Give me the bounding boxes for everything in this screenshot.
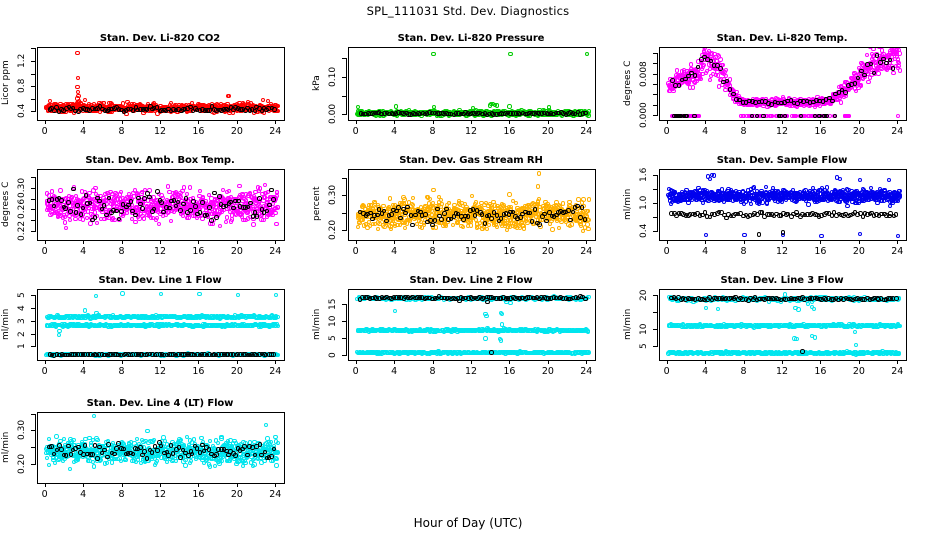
x-tick bbox=[237, 483, 238, 487]
y-tick bbox=[342, 114, 347, 115]
y-tick-label: 0 bbox=[326, 339, 340, 371]
y-axis-label-sample-flow: ml/min bbox=[622, 167, 634, 241]
x-tick bbox=[275, 483, 276, 487]
y-tick-label: 1 bbox=[15, 330, 29, 362]
y-tick-label: 1.0 bbox=[637, 187, 651, 219]
y-tick bbox=[342, 355, 347, 356]
x-tick-label: 8 bbox=[418, 126, 448, 137]
y-tick-label: 0.22 bbox=[15, 215, 29, 247]
x-tick bbox=[160, 120, 161, 124]
x-tick-label: 4 bbox=[379, 366, 409, 377]
x-axis-line bbox=[45, 120, 276, 121]
plot-area-li820-pressure bbox=[348, 47, 596, 121]
x-axis-line bbox=[45, 360, 276, 361]
x-tick bbox=[820, 240, 821, 244]
y-axis-line bbox=[35, 295, 36, 346]
x-tick-label: 16 bbox=[183, 246, 213, 257]
y-minor-tick bbox=[653, 105, 658, 106]
x-tick-label: 20 bbox=[533, 126, 563, 137]
x-tick-label: 4 bbox=[379, 126, 409, 137]
y-tick bbox=[342, 304, 347, 305]
x-tick bbox=[897, 120, 898, 124]
y-tick-label: 10 bbox=[326, 305, 340, 337]
y-tick-label: 0.008 bbox=[637, 58, 651, 90]
x-tick-label: 12 bbox=[456, 366, 486, 377]
x-tick bbox=[586, 120, 587, 124]
x-tick-label: 0 bbox=[652, 126, 682, 137]
y-minor-tick bbox=[31, 177, 36, 178]
y-tick bbox=[31, 86, 36, 87]
x-tick bbox=[275, 360, 276, 364]
panel-title-amb-box-temp: Stan. Dev. Amb. Box Temp. bbox=[0, 155, 323, 166]
y-tick-label: 5 bbox=[326, 322, 340, 354]
x-tick-label: 4 bbox=[690, 366, 720, 377]
y-tick bbox=[31, 464, 36, 465]
y-tick-label: 0.4 bbox=[637, 215, 651, 247]
y-minor-tick bbox=[31, 414, 36, 415]
y-axis-label-gas-stream-rh: percent bbox=[311, 167, 323, 241]
x-tick-label: 12 bbox=[145, 246, 175, 257]
panel-title-line-4-lt-flow: Stan. Dev. Line 4 (LT) Flow bbox=[0, 398, 323, 409]
panel-title-line-2-flow: Stan. Dev. Line 2 Flow bbox=[308, 275, 634, 286]
x-tick bbox=[275, 240, 276, 244]
x-tick bbox=[160, 483, 161, 487]
x-tick bbox=[198, 240, 199, 244]
x-tick-label: 8 bbox=[418, 366, 448, 377]
x-tick-label: 0 bbox=[30, 366, 60, 377]
y-tick bbox=[342, 321, 347, 322]
x-axis-line bbox=[45, 483, 276, 484]
x-tick bbox=[122, 360, 123, 364]
y-tick bbox=[342, 77, 347, 78]
y-minor-tick bbox=[653, 63, 658, 64]
y-minor-tick bbox=[31, 447, 36, 448]
y-tick-label: 10 bbox=[637, 313, 651, 345]
figure-title: SPL_111031 Std. Dev. Diagnostics bbox=[0, 4, 936, 18]
y-tick bbox=[342, 230, 347, 231]
x-tick-label: 0 bbox=[30, 489, 60, 500]
y-tick bbox=[653, 329, 658, 330]
x-tick-label: 4 bbox=[68, 126, 98, 137]
x-tick bbox=[275, 120, 276, 124]
x-tick-label: 20 bbox=[222, 366, 252, 377]
x-tick-label: 4 bbox=[68, 366, 98, 377]
y-minor-tick bbox=[31, 48, 36, 49]
x-tick bbox=[471, 120, 472, 124]
x-tick-label: 24 bbox=[571, 246, 601, 257]
y-minor-tick bbox=[653, 312, 658, 313]
y-tick bbox=[31, 346, 36, 347]
x-axis-line bbox=[667, 240, 898, 241]
x-tick-label: 4 bbox=[68, 489, 98, 500]
y-tick bbox=[31, 111, 36, 112]
x-tick bbox=[83, 240, 84, 244]
y-tick-label: 3 bbox=[15, 305, 29, 337]
x-axis-line bbox=[45, 240, 276, 241]
x-tick-label: 20 bbox=[222, 246, 252, 257]
y-axis-label-li820-co2: Licor ppm bbox=[0, 45, 12, 121]
x-tick bbox=[586, 240, 587, 244]
x-tick bbox=[509, 120, 510, 124]
x-tick bbox=[897, 240, 898, 244]
plot-area-line-4-lt-flow bbox=[37, 412, 285, 484]
y-axis-label-amb-box-temp: degrees C bbox=[0, 167, 12, 241]
x-tick bbox=[859, 120, 860, 124]
y-tick bbox=[653, 115, 658, 116]
x-tick-label: 24 bbox=[882, 366, 912, 377]
panel-title-li820-pressure: Stan. Dev. Li-820 Pressure bbox=[308, 33, 634, 44]
x-tick bbox=[820, 360, 821, 364]
x-tick bbox=[198, 120, 199, 124]
x-tick-label: 16 bbox=[805, 246, 835, 257]
y-axis-label-line-4-lt-flow: ml/min bbox=[0, 410, 12, 484]
y-minor-tick bbox=[342, 178, 347, 179]
x-tick bbox=[198, 360, 199, 364]
panel-title-line-3-flow: Stan. Dev. Line 3 Flow bbox=[619, 275, 936, 286]
x-tick-label: 0 bbox=[341, 126, 371, 137]
x-tick bbox=[237, 240, 238, 244]
plot-area-sample-flow bbox=[659, 169, 907, 241]
x-tick-label: 24 bbox=[882, 246, 912, 257]
y-minor-tick bbox=[31, 74, 36, 75]
y-minor-tick bbox=[342, 58, 347, 59]
x-tick-label: 16 bbox=[183, 366, 213, 377]
figure-xlabel: Hour of Day (UTC) bbox=[0, 516, 936, 530]
x-tick bbox=[744, 240, 745, 244]
y-tick bbox=[31, 321, 36, 322]
x-tick-label: 24 bbox=[882, 126, 912, 137]
x-tick bbox=[471, 360, 472, 364]
x-tick bbox=[45, 240, 46, 244]
x-tick bbox=[705, 120, 706, 124]
x-tick bbox=[667, 360, 668, 364]
x-tick bbox=[548, 240, 549, 244]
x-tick-label: 12 bbox=[145, 489, 175, 500]
x-tick bbox=[744, 120, 745, 124]
y-minor-tick bbox=[653, 84, 658, 85]
y-minor-tick bbox=[653, 94, 658, 95]
y-tick bbox=[31, 295, 36, 296]
x-tick-label: 4 bbox=[690, 246, 720, 257]
x-tick-label: 8 bbox=[107, 246, 137, 257]
y-axis-label-line-2-flow: ml/min bbox=[311, 287, 323, 361]
x-tick-label: 8 bbox=[107, 366, 137, 377]
y-axis-label-line-3-flow: ml/min bbox=[622, 287, 634, 361]
y-tick bbox=[342, 338, 347, 339]
x-tick-label: 12 bbox=[456, 246, 486, 257]
panel-title-li820-co2: Stan. Dev. Li-820 CO2 bbox=[0, 33, 323, 44]
plot-area-line-1-flow bbox=[37, 289, 285, 361]
y-axis-line bbox=[657, 175, 658, 231]
x-axis-line bbox=[356, 240, 587, 241]
x-tick bbox=[433, 240, 434, 244]
x-tick-label: 0 bbox=[30, 126, 60, 137]
y-minor-tick bbox=[31, 99, 36, 100]
y-tick-label: 0.26 bbox=[15, 193, 29, 225]
x-tick-label: 4 bbox=[690, 126, 720, 137]
x-tick-label: 0 bbox=[652, 366, 682, 377]
x-tick bbox=[45, 483, 46, 487]
y-axis-line bbox=[657, 295, 658, 345]
x-tick-label: 16 bbox=[805, 126, 835, 137]
y-tick-label: 5 bbox=[15, 279, 29, 311]
y-axis-line bbox=[657, 53, 658, 115]
y-tick-label: 0.8 bbox=[15, 70, 29, 102]
x-tick bbox=[859, 360, 860, 364]
panel-li820-temp: Stan. Dev. Li-820 Temp.048121620240.0000… bbox=[0, 0, 936, 540]
y-tick-label: 0.000 bbox=[637, 99, 651, 131]
y-axis-line bbox=[35, 177, 36, 231]
x-tick-label: 8 bbox=[729, 246, 759, 257]
panel-title-gas-stream-rh: Stan. Dev. Gas Stream RH bbox=[308, 155, 634, 166]
y-minor-tick bbox=[31, 199, 36, 200]
x-tick bbox=[744, 360, 745, 364]
x-tick-label: 0 bbox=[341, 246, 371, 257]
x-tick bbox=[122, 483, 123, 487]
panel-line-1-flow: Stan. Dev. Line 1 Flow0481216202412345ml… bbox=[0, 0, 936, 540]
x-tick bbox=[705, 360, 706, 364]
x-tick bbox=[356, 120, 357, 124]
x-tick bbox=[122, 240, 123, 244]
y-axis-line bbox=[346, 304, 347, 355]
y-tick bbox=[31, 430, 36, 431]
x-axis-line bbox=[356, 360, 587, 361]
x-tick-label: 24 bbox=[260, 489, 290, 500]
x-tick bbox=[705, 240, 706, 244]
x-tick-label: 8 bbox=[729, 126, 759, 137]
x-tick bbox=[509, 240, 510, 244]
y-tick-label: 15 bbox=[326, 288, 340, 320]
y-minor-tick bbox=[653, 189, 658, 190]
x-tick bbox=[394, 360, 395, 364]
x-tick bbox=[198, 483, 199, 487]
plot-area-li820-co2 bbox=[37, 47, 285, 121]
x-tick-label: 16 bbox=[183, 126, 213, 137]
y-tick bbox=[342, 195, 347, 196]
x-tick-label: 12 bbox=[456, 126, 486, 137]
panel-li820-pressure: Stan. Dev. Li-820 Pressure048121620240.0… bbox=[0, 0, 936, 540]
x-tick bbox=[237, 360, 238, 364]
x-tick-label: 20 bbox=[844, 366, 874, 377]
x-tick bbox=[433, 120, 434, 124]
x-tick bbox=[509, 360, 510, 364]
y-tick-label: 0.10 bbox=[326, 61, 340, 93]
x-tick-label: 12 bbox=[145, 366, 175, 377]
x-tick bbox=[83, 483, 84, 487]
x-tick bbox=[859, 240, 860, 244]
x-tick bbox=[83, 120, 84, 124]
x-tick-label: 8 bbox=[418, 246, 448, 257]
x-tick bbox=[820, 120, 821, 124]
y-axis-label-li820-temp: degrees C bbox=[622, 45, 634, 121]
y-tick-label: 0.20 bbox=[326, 214, 340, 246]
x-tick-label: 20 bbox=[844, 246, 874, 257]
x-tick-label: 24 bbox=[571, 366, 601, 377]
plot-area-amb-box-temp bbox=[37, 169, 285, 241]
x-tick-label: 20 bbox=[533, 246, 563, 257]
x-tick bbox=[356, 360, 357, 364]
x-tick-label: 16 bbox=[183, 489, 213, 500]
y-tick-label: 20 bbox=[637, 279, 651, 311]
x-axis-line bbox=[667, 120, 898, 121]
x-tick-label: 20 bbox=[533, 366, 563, 377]
y-tick-label: 2 bbox=[15, 318, 29, 350]
x-tick bbox=[83, 360, 84, 364]
y-tick-label: 0.00 bbox=[326, 98, 340, 130]
y-tick-label: 1.2 bbox=[15, 45, 29, 77]
x-tick bbox=[548, 120, 549, 124]
y-tick bbox=[653, 231, 658, 232]
y-tick bbox=[31, 231, 36, 232]
x-tick bbox=[237, 120, 238, 124]
plot-area-line-3-flow bbox=[659, 289, 907, 361]
x-tick bbox=[45, 120, 46, 124]
x-tick-label: 24 bbox=[571, 126, 601, 137]
x-axis-line bbox=[356, 120, 587, 121]
plot-area-gas-stream-rh bbox=[348, 169, 596, 241]
y-minor-tick bbox=[653, 53, 658, 54]
x-tick-label: 20 bbox=[844, 126, 874, 137]
x-tick-label: 8 bbox=[729, 366, 759, 377]
panel-gas-stream-rh: Stan. Dev. Gas Stream RH048121620240.200… bbox=[0, 0, 936, 540]
x-tick bbox=[667, 240, 668, 244]
y-tick bbox=[31, 188, 36, 189]
x-tick bbox=[586, 360, 587, 364]
x-tick bbox=[897, 360, 898, 364]
y-tick bbox=[653, 295, 658, 296]
panel-sample-flow: Stan. Dev. Sample Flow048121620240.41.01… bbox=[0, 0, 936, 540]
y-minor-tick bbox=[31, 220, 36, 221]
x-tick-label: 4 bbox=[379, 246, 409, 257]
y-tick bbox=[31, 334, 36, 335]
x-tick-label: 8 bbox=[107, 126, 137, 137]
x-tick bbox=[356, 240, 357, 244]
x-tick-label: 0 bbox=[341, 366, 371, 377]
x-tick-label: 8 bbox=[107, 489, 137, 500]
x-tick bbox=[160, 360, 161, 364]
x-tick bbox=[394, 240, 395, 244]
y-tick-label: 0.30 bbox=[15, 414, 29, 446]
x-tick bbox=[548, 360, 549, 364]
x-tick bbox=[782, 120, 783, 124]
panel-title-li820-temp: Stan. Dev. Li-820 Temp. bbox=[619, 33, 936, 44]
y-tick-label: 0.30 bbox=[15, 172, 29, 204]
x-tick-label: 4 bbox=[68, 246, 98, 257]
y-axis-line bbox=[346, 178, 347, 231]
y-tick bbox=[31, 308, 36, 309]
y-tick bbox=[653, 203, 658, 204]
y-axis-line bbox=[35, 48, 36, 111]
y-tick-label: 1.6 bbox=[637, 159, 651, 191]
x-tick-label: 12 bbox=[767, 366, 797, 377]
x-tick-label: 16 bbox=[494, 126, 524, 137]
y-tick bbox=[31, 209, 36, 210]
y-minor-tick bbox=[653, 217, 658, 218]
y-tick-label: 0.20 bbox=[15, 448, 29, 480]
x-tick bbox=[160, 240, 161, 244]
x-tick-label: 24 bbox=[260, 246, 290, 257]
x-tick-label: 12 bbox=[145, 126, 175, 137]
panel-amb-box-temp: Stan. Dev. Amb. Box Temp.048121620240.22… bbox=[0, 0, 936, 540]
x-tick bbox=[782, 240, 783, 244]
panel-title-line-1-flow: Stan. Dev. Line 1 Flow bbox=[0, 275, 323, 286]
x-tick-label: 20 bbox=[222, 489, 252, 500]
x-tick-label: 24 bbox=[260, 366, 290, 377]
y-axis-line bbox=[35, 414, 36, 464]
plot-area-line-2-flow bbox=[348, 289, 596, 361]
panel-title-sample-flow: Stan. Dev. Sample Flow bbox=[619, 155, 936, 166]
x-tick-label: 0 bbox=[652, 246, 682, 257]
x-tick bbox=[433, 360, 434, 364]
y-tick bbox=[31, 61, 36, 62]
y-axis-label-line-1-flow: ml/min bbox=[0, 287, 12, 361]
y-tick bbox=[653, 346, 658, 347]
x-tick bbox=[667, 120, 668, 124]
plot-area-li820-temp bbox=[659, 47, 907, 121]
panel-line-4-lt-flow: Stan. Dev. Line 4 (LT) Flow048121620240.… bbox=[0, 0, 936, 540]
x-axis-line bbox=[667, 360, 898, 361]
y-axis-line bbox=[346, 58, 347, 115]
y-minor-tick bbox=[342, 96, 347, 97]
y-axis-label-li820-pressure: kPa bbox=[311, 45, 323, 121]
x-tick-label: 16 bbox=[494, 246, 524, 257]
x-tick-label: 20 bbox=[222, 126, 252, 137]
x-tick bbox=[122, 120, 123, 124]
y-tick-label: 5 bbox=[637, 330, 651, 362]
x-tick-label: 0 bbox=[30, 246, 60, 257]
y-tick bbox=[653, 74, 658, 75]
x-tick-label: 16 bbox=[805, 366, 835, 377]
panel-line-2-flow: Stan. Dev. Line 2 Flow04812162024051015m… bbox=[0, 0, 936, 540]
panel-line-3-flow: Stan. Dev. Line 3 Flow0481216202451020ml… bbox=[0, 0, 936, 540]
y-minor-tick bbox=[342, 213, 347, 214]
x-tick bbox=[471, 240, 472, 244]
x-tick bbox=[394, 120, 395, 124]
x-tick bbox=[45, 360, 46, 364]
x-tick bbox=[782, 360, 783, 364]
panel-li820-co2: Stan. Dev. Li-820 CO2048121620240.40.81.… bbox=[0, 0, 936, 540]
y-tick-label: 0.4 bbox=[15, 95, 29, 127]
x-tick-label: 24 bbox=[260, 126, 290, 137]
x-tick-label: 16 bbox=[494, 366, 524, 377]
x-tick-label: 12 bbox=[767, 246, 797, 257]
y-tick-label: 0.30 bbox=[326, 179, 340, 211]
y-tick bbox=[653, 175, 658, 176]
x-tick-label: 12 bbox=[767, 126, 797, 137]
y-tick-label: 4 bbox=[15, 292, 29, 324]
